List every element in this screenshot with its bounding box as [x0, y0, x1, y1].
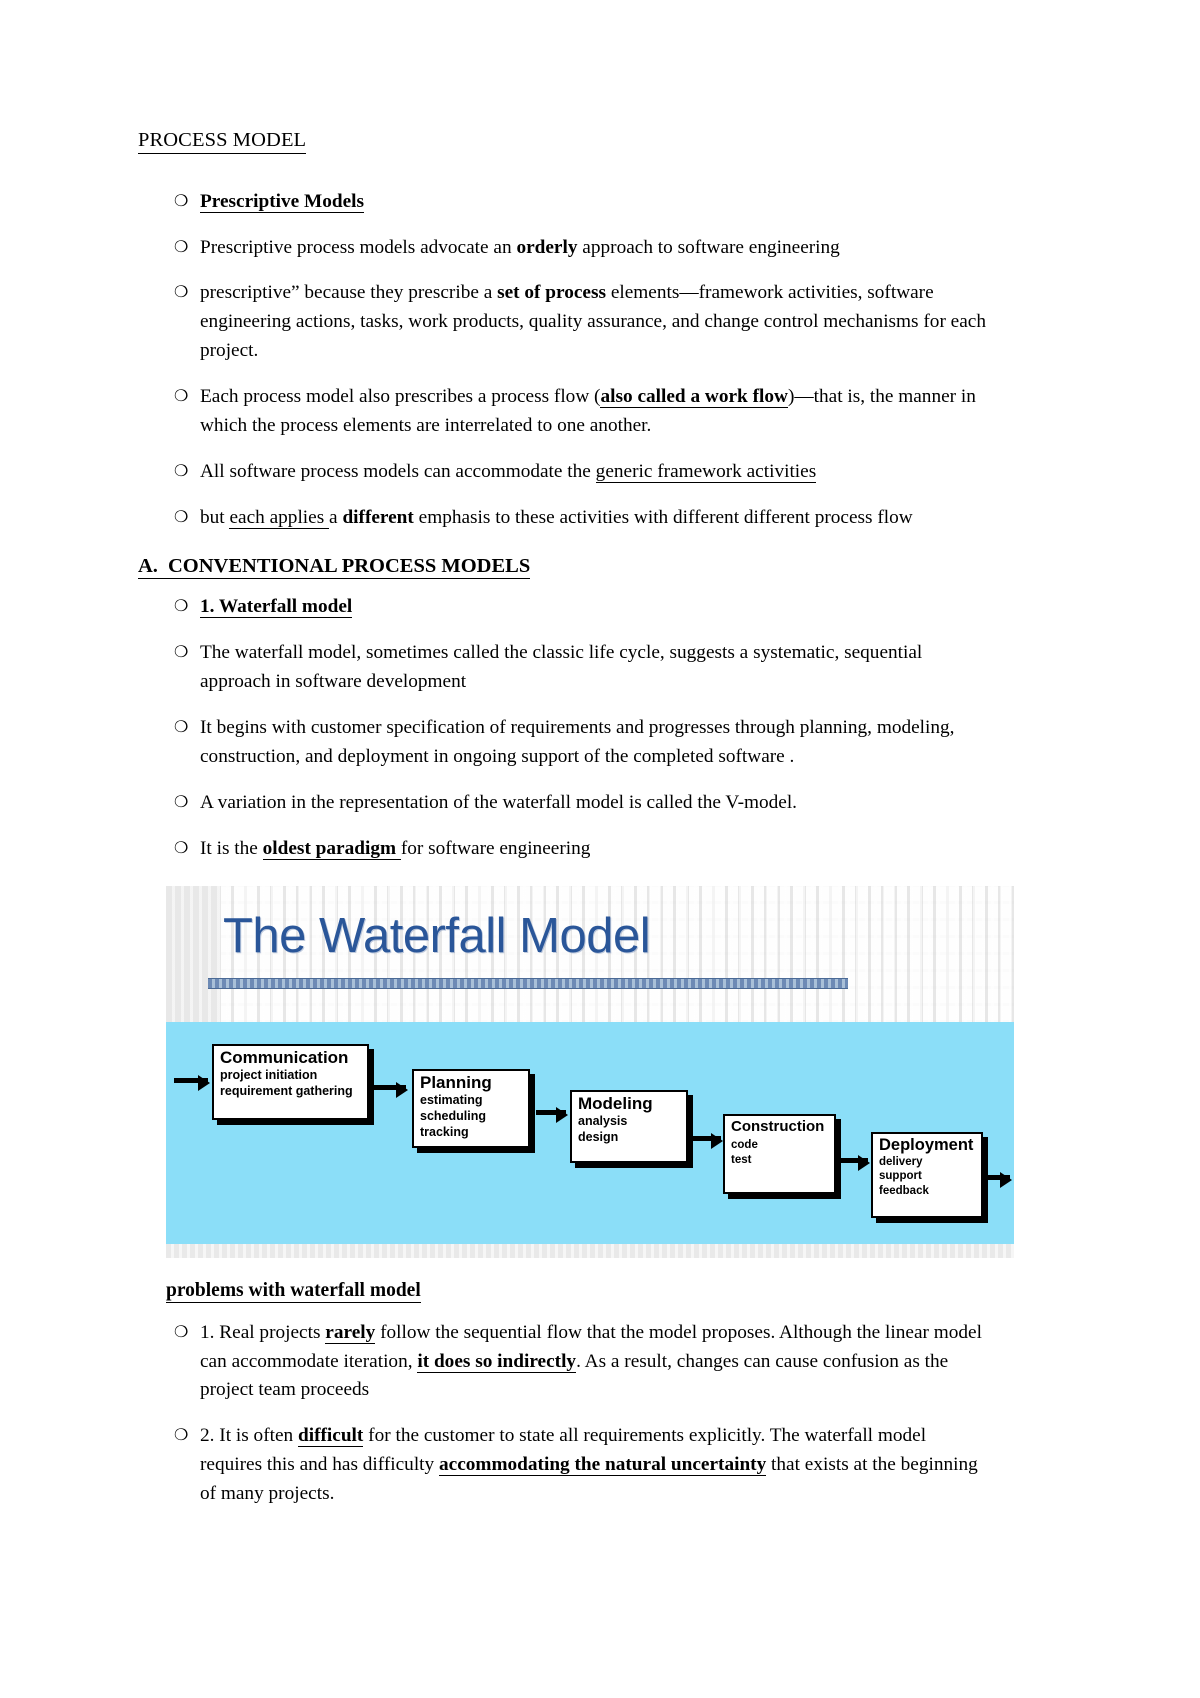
diagram-box-deployment: Deployment delivery support feedback — [871, 1132, 983, 1218]
figure-title: The Waterfall Model — [223, 908, 650, 964]
list-item-label: It begins with customer specification of… — [200, 717, 954, 767]
intro-bullet-list: ❍ Prescriptive Models ❍ Prescriptive pro… — [138, 188, 988, 533]
bullet-icon: ❍ — [174, 715, 188, 740]
arrow-construction-to-deployment — [841, 1158, 868, 1163]
box-sub-line: analysis — [578, 1113, 682, 1129]
bullet-icon: ❍ — [174, 1423, 188, 1448]
list-item-classic-life-cycle: ❍ The waterfall model, sometimes called … — [138, 639, 988, 697]
list-item-label: prescriptive” because they prescribe a s… — [200, 282, 986, 361]
bullet-icon: ❍ — [174, 1320, 188, 1345]
list-item-label: Each process model also prescribes a pro… — [200, 386, 976, 436]
arrow-out-of-deployment — [988, 1175, 1010, 1180]
diagram-box-modeling: Modeling analysis design — [570, 1090, 688, 1163]
bullet-icon: ❍ — [174, 235, 188, 260]
box-sub-line: estimating — [420, 1092, 524, 1108]
diagram-box-communication: Communication project initiation require… — [212, 1044, 369, 1120]
list-item-label: Prescriptive Models — [200, 191, 364, 213]
list-item-problem-2: ❍ 2. It is often difficult for the custo… — [138, 1422, 988, 1509]
figure-bottom-strip — [166, 1244, 1014, 1258]
bullet-icon: ❍ — [174, 836, 188, 861]
document-content: PROCESS MODEL ❍ Prescriptive Models ❍ Pr… — [138, 128, 988, 1526]
box-sub-line: delivery — [879, 1155, 977, 1170]
document-page: PROCESS MODEL ❍ Prescriptive Models ❍ Pr… — [0, 0, 1200, 1698]
list-item-waterfall-model-heading: ❍ 1. Waterfall model — [138, 593, 988, 622]
bullet-icon: ❍ — [174, 459, 188, 484]
problems-heading-row: problems with waterfall model — [138, 1276, 988, 1319]
page-title: PROCESS MODEL — [138, 128, 306, 154]
list-item-label: It is the oldest paradigm for software e… — [200, 838, 590, 860]
box-sub-line: scheduling — [420, 1108, 524, 1124]
figure-diagram-area: Communication project initiation require… — [166, 1022, 1014, 1244]
list-item-label: 1. Real projects rarely follow the seque… — [200, 1322, 982, 1401]
box-title: Modeling — [578, 1094, 682, 1114]
box-sub-line: design — [578, 1129, 682, 1145]
box-sub-line: project initiation — [220, 1067, 363, 1083]
list-item-problem-1: ❍ 1. Real projects rarely follow the seq… — [138, 1319, 988, 1406]
page-title-row: PROCESS MODEL — [138, 128, 988, 172]
problems-bullet-list: ❍ 1. Real projects rarely follow the seq… — [138, 1319, 988, 1510]
arrow-communication-to-planning — [374, 1085, 406, 1090]
bullet-icon: ❍ — [174, 384, 188, 409]
diagram-box-planning: Planning estimating scheduling tracking — [412, 1069, 530, 1148]
list-item-label: The waterfall model, sometimes called th… — [200, 642, 922, 692]
box-sub-line: test — [731, 1153, 830, 1168]
box-sub-line: code — [731, 1138, 830, 1153]
list-item-label: Prescriptive process models advocate an … — [200, 237, 840, 258]
bullet-icon: ❍ — [174, 790, 188, 815]
list-item-work-flow: ❍ Each process model also prescribes a p… — [138, 383, 988, 441]
waterfall-bullet-list: ❍ 1. Waterfall model ❍ The waterfall mod… — [138, 593, 988, 864]
arrow-modeling-to-construction — [693, 1136, 721, 1141]
section-letter: A. — [138, 555, 168, 579]
list-item-different-emphasis: ❍ but each applies a different emphasis … — [138, 504, 988, 533]
list-item-oldest-paradigm: ❍ It is the oldest paradigm for software… — [138, 835, 988, 864]
bullet-icon: ❍ — [174, 594, 188, 619]
arrow-into-communication — [174, 1078, 208, 1083]
arrow-planning-to-modeling — [536, 1110, 566, 1115]
list-item-label: but each applies a different emphasis to… — [200, 507, 913, 529]
list-item-label: A variation in the representation of the… — [200, 792, 797, 813]
box-sub-line: tracking — [420, 1124, 524, 1140]
bullet-icon: ❍ — [174, 505, 188, 530]
box-sub-line: requirement gathering — [220, 1083, 363, 1099]
bullet-icon: ❍ — [174, 280, 188, 305]
list-item-generic-framework: ❍ All software process models can accomm… — [138, 458, 988, 487]
box-sub-line: feedback — [879, 1184, 977, 1199]
diagram-box-construction: Construction code test — [723, 1114, 836, 1194]
problems-heading: problems with waterfall model — [166, 1280, 421, 1303]
section-title: CONVENTIONAL PROCESS MODELS — [168, 555, 530, 579]
box-sub-line: support — [879, 1169, 977, 1184]
section-heading-conventional: A. CONVENTIONAL PROCESS MODELS — [138, 555, 988, 579]
list-item-prescriptive-models: ❍ Prescriptive Models — [138, 188, 988, 217]
box-title: Deployment — [879, 1136, 977, 1155]
list-item-begins-with-customer: ❍ It begins with customer specification … — [138, 714, 988, 772]
list-item-label: All software process models can accommod… — [200, 461, 816, 483]
box-title: Planning — [420, 1073, 524, 1093]
bullet-icon: ❍ — [174, 640, 188, 665]
box-title: Communication — [220, 1048, 363, 1068]
figure-divider-bar — [208, 978, 848, 989]
waterfall-figure: The Waterfall Model Communication projec… — [166, 886, 1014, 1258]
list-item-orderly-approach: ❍ Prescriptive process models advocate a… — [138, 234, 988, 263]
sub-heading-label: 1. Waterfall model — [200, 596, 352, 618]
box-title: Construction — [731, 1118, 830, 1135]
list-item-v-model: ❍ A variation in the representation of t… — [138, 789, 988, 818]
list-item-label: 2. It is often difficult for the custome… — [200, 1425, 978, 1504]
bullet-icon: ❍ — [174, 189, 188, 214]
list-item-set-of-process: ❍ prescriptive” because they prescribe a… — [138, 279, 988, 366]
